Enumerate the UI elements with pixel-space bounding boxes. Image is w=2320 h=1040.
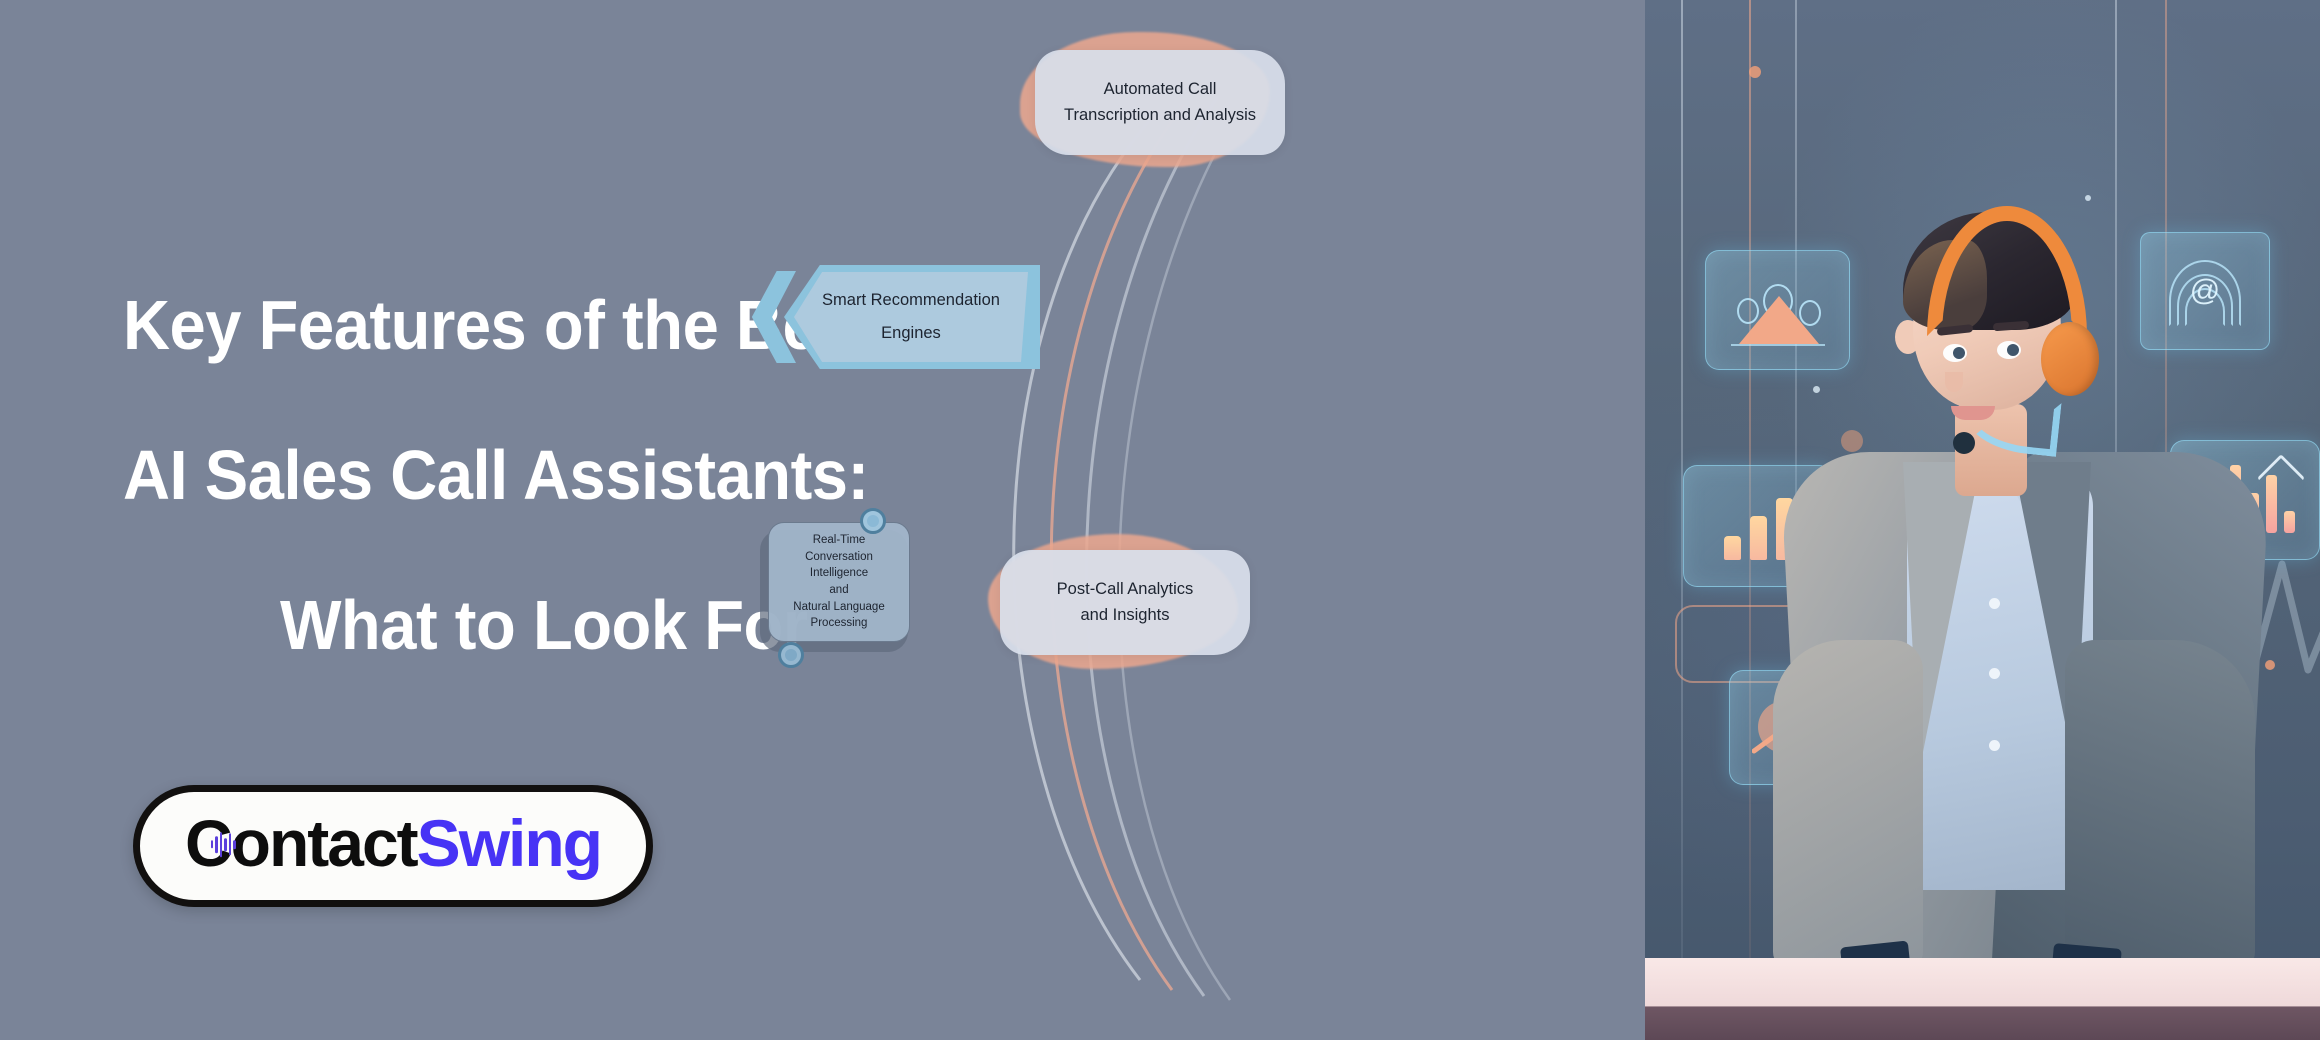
shirt-button (1989, 740, 2000, 751)
shirt-button (1989, 598, 2000, 609)
headset-microphone (1953, 432, 1975, 454)
node-label-line-1: Automated Call (1104, 80, 1217, 98)
pupil-right (2007, 344, 2019, 356)
node-label-line-1: Smart Recommendation (822, 291, 1000, 309)
nose (1945, 372, 1963, 392)
node-label-line-2: and Insights (1081, 606, 1170, 624)
node-label-line-1: Real-Time (813, 534, 866, 546)
node-card: Automated Call Transcription and Analysi… (1035, 50, 1285, 155)
feature-flow-diagram: Automated Call Transcription and Analysi… (1080, 0, 1680, 1040)
node-label-line-4: Natural Language (793, 601, 884, 613)
node-banner-inner: Smart Recommendation Engines (794, 272, 1028, 362)
logo-wordmark: Contact Swing (185, 805, 601, 881)
desk-surface (1645, 958, 2320, 1006)
connector-dot-bottom-left (778, 642, 804, 668)
node-card: Real-Time Conversation Intelligence and … (768, 522, 910, 642)
node-label: Real-Time Conversation Intelligence and … (769, 532, 909, 632)
logo-text-swing: Swing (417, 805, 601, 881)
node-label-line-3: and (829, 584, 848, 596)
node-label: Automated Call Transcription and Analysi… (1052, 77, 1268, 128)
connector-dot-top-right (860, 508, 886, 534)
node-post-call-analytics[interactable]: Post-Call Analytics and Insights (1000, 550, 1260, 660)
node-automated-call-transcription[interactable]: Automated Call Transcription and Analysi… (1030, 50, 1290, 160)
logo-text-contact: Contact (185, 805, 417, 881)
node-smart-recommendation-engines[interactable]: Smart Recommendation Engines (750, 265, 1040, 370)
pupil-left (1953, 347, 1965, 359)
node-label-line-2: Conversation Intelligence (805, 551, 873, 580)
headset-earcup (2041, 322, 2099, 396)
node-label-line-1: Post-Call Analytics (1057, 580, 1194, 598)
arm-right (2065, 640, 2255, 970)
banner-canvas: Key Features of the Best AI Sales Call A… (0, 0, 2320, 1040)
node-label: Post-Call Analytics and Insights (1045, 577, 1206, 628)
arm-left (1773, 640, 1923, 970)
node-label-line-5: Processing (811, 617, 868, 629)
node-label-line-2: Engines (881, 324, 941, 342)
shirt-button (1989, 668, 2000, 679)
agent-illustration: @ (1645, 0, 2320, 1040)
node-label: Smart Recommendation Engines (822, 284, 1000, 350)
call-agent-character (1645, 0, 2320, 1040)
desk (1645, 958, 2320, 1040)
node-real-time-conversation-intelligence[interactable]: Real-Time Conversation Intelligence and … (768, 522, 918, 650)
node-card: Post-Call Analytics and Insights (1000, 550, 1250, 655)
node-label-line-2: Transcription and Analysis (1064, 106, 1256, 124)
contactswing-logo[interactable]: Contact Swing (133, 785, 653, 907)
